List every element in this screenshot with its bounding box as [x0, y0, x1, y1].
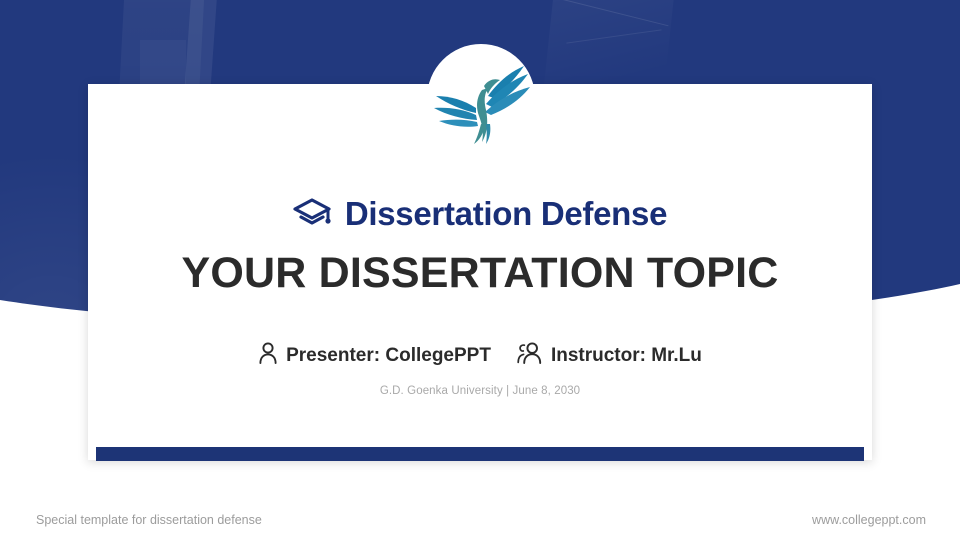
presenter-item: Presenter: CollegePPT	[258, 342, 491, 369]
presenter-label: Presenter: CollegePPT	[286, 345, 491, 367]
graduation-cap-icon	[293, 198, 333, 230]
footer-right-url[interactable]: www.collegeppt.com	[812, 513, 926, 527]
page-title: YOUR DISSERTATION TOPIC	[181, 249, 778, 298]
person-icon	[258, 342, 278, 369]
card-content: Dissertation Defense YOUR DISSERTATION T…	[88, 84, 872, 460]
people-group-icon	[517, 342, 543, 369]
footer-left-text: Special template for dissertation defens…	[36, 513, 262, 527]
instructor-item: Instructor: Mr.Lu	[517, 342, 702, 369]
eyebrow-row: Dissertation Defense	[293, 195, 667, 233]
people-row: Presenter: CollegePPT Instructor: Mr.Lu	[258, 342, 702, 369]
instructor-label: Instructor: Mr.Lu	[551, 345, 702, 367]
presentation-slide: Dissertation Defense YOUR DISSERTATION T…	[0, 0, 960, 540]
university-date-meta: G.D. Goenka University | June 8, 2030	[380, 385, 580, 397]
eyebrow-label: Dissertation Defense	[345, 195, 667, 233]
